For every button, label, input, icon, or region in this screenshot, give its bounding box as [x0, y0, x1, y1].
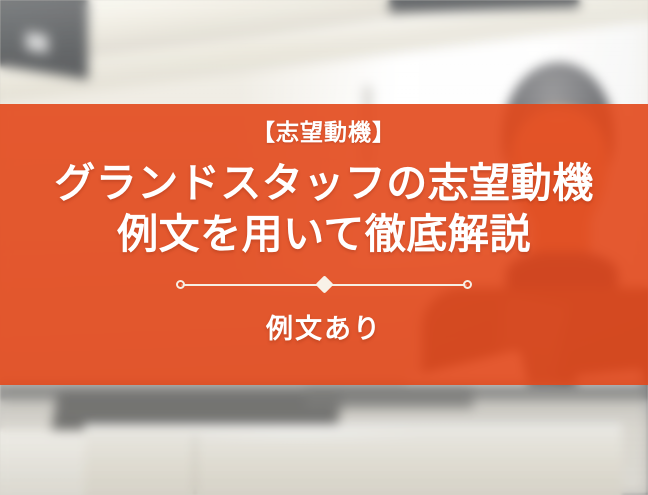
banner-headline-line-1: グランドスタッフの志望動機	[54, 158, 594, 210]
thumbnail-card: 【志望動機】 グランドスタッフの志望動機 例文を用いて徹底解説 例文あり	[0, 0, 648, 495]
banner-footnote-label: 例文あり	[266, 307, 382, 346]
banner-eyebrow-label: 【志望動機】	[252, 120, 396, 148]
banner-divider	[176, 277, 472, 293]
photo-dark-panel-left	[0, 0, 88, 80]
photo-counter-highlight	[156, 428, 441, 440]
photo-counter-seam	[194, 436, 196, 495]
banner-headline-line-2: 例文を用いて徹底解説	[54, 209, 594, 261]
photo-counter-shadow-center	[305, 386, 473, 408]
divider-diamond-icon	[315, 276, 333, 294]
orange-banner-overlay: 【志望動機】 グランドスタッフの志望動機 例文を用いて徹底解説 例文あり	[0, 104, 648, 385]
divider-ring-left-icon	[176, 280, 185, 289]
divider-ring-right-icon	[463, 280, 472, 289]
banner-headline: グランドスタッフの志望動機 例文を用いて徹底解説	[54, 158, 594, 261]
